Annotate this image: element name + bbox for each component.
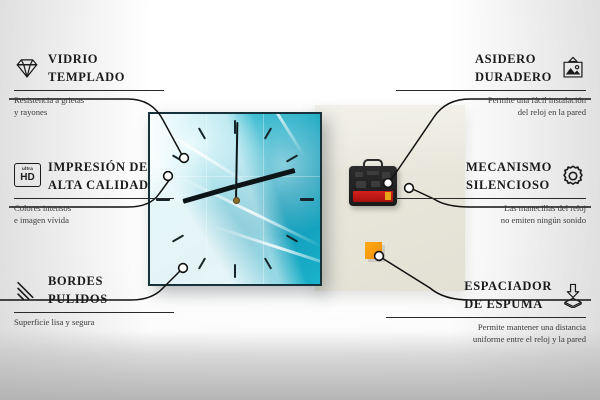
callout-desc-line1: Colores intensos (14, 203, 174, 215)
callout-desc-line1: Permite una fácil instalación (396, 95, 586, 107)
callout-impresion-alta-calidad[interactable]: ultra HD IMPRESIÓN DE ALTA CALIDAD Color… (14, 158, 174, 226)
tick-mark-8 (172, 234, 184, 242)
callout-header: ultra HD IMPRESIÓN DE ALTA CALIDAD (14, 158, 174, 194)
feather-streak (245, 112, 306, 157)
callout-bordes-pulidos[interactable]: BORDES PULIDOS Superficie lisa y segura (14, 272, 174, 329)
callout-rule (396, 90, 586, 91)
glass-pane-line (206, 114, 207, 284)
callout-mecanismo-silencioso[interactable]: MECANISMO SILENCIOSO Las manecillas del … (396, 158, 586, 226)
callout-rule (14, 90, 164, 91)
callout-header: MECANISMO SILENCIOSO (396, 158, 586, 194)
callout-header: ASIDERO DURADERO (396, 50, 586, 86)
clock-mechanism (349, 166, 397, 206)
mechanism-detail (382, 172, 390, 179)
mechanism-detail (356, 181, 366, 188)
callout-title: BORDES PULIDOS (48, 272, 108, 308)
callout-title: IMPRESIÓN DE ALTA CALIDAD (48, 158, 149, 194)
callout-rule (386, 317, 586, 318)
callout-desc-line1: Las manecillas del reloj (396, 203, 586, 215)
callout-rule (14, 198, 174, 199)
mechanism-hanger-hook (363, 159, 383, 170)
callout-title: ESPACIADOR DE ESPUMA (464, 277, 552, 313)
foam-spacer (365, 242, 382, 259)
foam-spacer-icon (560, 282, 586, 308)
callout-desc-line1: Superficie lisa y segura (14, 317, 174, 329)
callout-desc-line2: no emiten ningún sonido (396, 215, 586, 227)
callout-desc-line2: e imagen vívida (14, 215, 174, 227)
callout-vidrio-templado[interactable]: VIDRIO TEMPLADO Resistencia a grietas y … (14, 50, 164, 118)
callout-desc-line1: Resistencia a grietas (14, 95, 164, 107)
wall-clock-product (148, 112, 322, 286)
callout-rule (396, 198, 586, 199)
tick-mark-3 (300, 198, 314, 201)
tick-mark-5 (264, 257, 272, 269)
tick-mark-2 (286, 154, 298, 162)
mechanism-detail (355, 172, 363, 177)
callout-espaciador-de-espuma[interactable]: ESPACIADOR DE ESPUMA Permite mantener un… (386, 277, 586, 345)
callout-desc-line2: del reloj en la pared (396, 107, 586, 119)
callout-asidero-duradero[interactable]: ASIDERO DURADERO Permite una fácil insta… (396, 50, 586, 118)
mechanism-battery (353, 191, 393, 202)
callout-header: BORDES PULIDOS (14, 272, 174, 308)
ultra-hd-icon: ultra HD (14, 163, 40, 189)
mechanism-detail (371, 181, 380, 187)
gear-icon (560, 163, 586, 189)
callout-title: VIDRIO TEMPLADO (48, 50, 125, 86)
tick-mark-1 (264, 127, 272, 139)
picture-frame-hanger-icon (560, 55, 586, 81)
callout-header: ESPACIADOR DE ESPUMA (386, 277, 586, 313)
callout-title: MECANISMO SILENCIOSO (466, 158, 552, 194)
callout-header: VIDRIO TEMPLADO (14, 50, 164, 86)
callout-title: ASIDERO DURADERO (475, 50, 552, 86)
clock-center-pin (233, 197, 240, 204)
diamond-icon (14, 55, 40, 81)
infographic-canvas: VIDRIO TEMPLADO Resistencia a grietas y … (0, 0, 600, 400)
callout-rule (14, 312, 174, 313)
tick-mark-7 (198, 257, 206, 269)
polished-edges-icon (14, 277, 40, 303)
callout-desc-line2: uniforme entre el reloj y la pared (386, 334, 586, 346)
callout-desc-line1: Permite mantener una distancia (386, 322, 586, 334)
tick-mark-6 (234, 264, 236, 278)
callout-desc-line2: y rayones (14, 107, 164, 119)
mechanism-detail (367, 171, 379, 175)
